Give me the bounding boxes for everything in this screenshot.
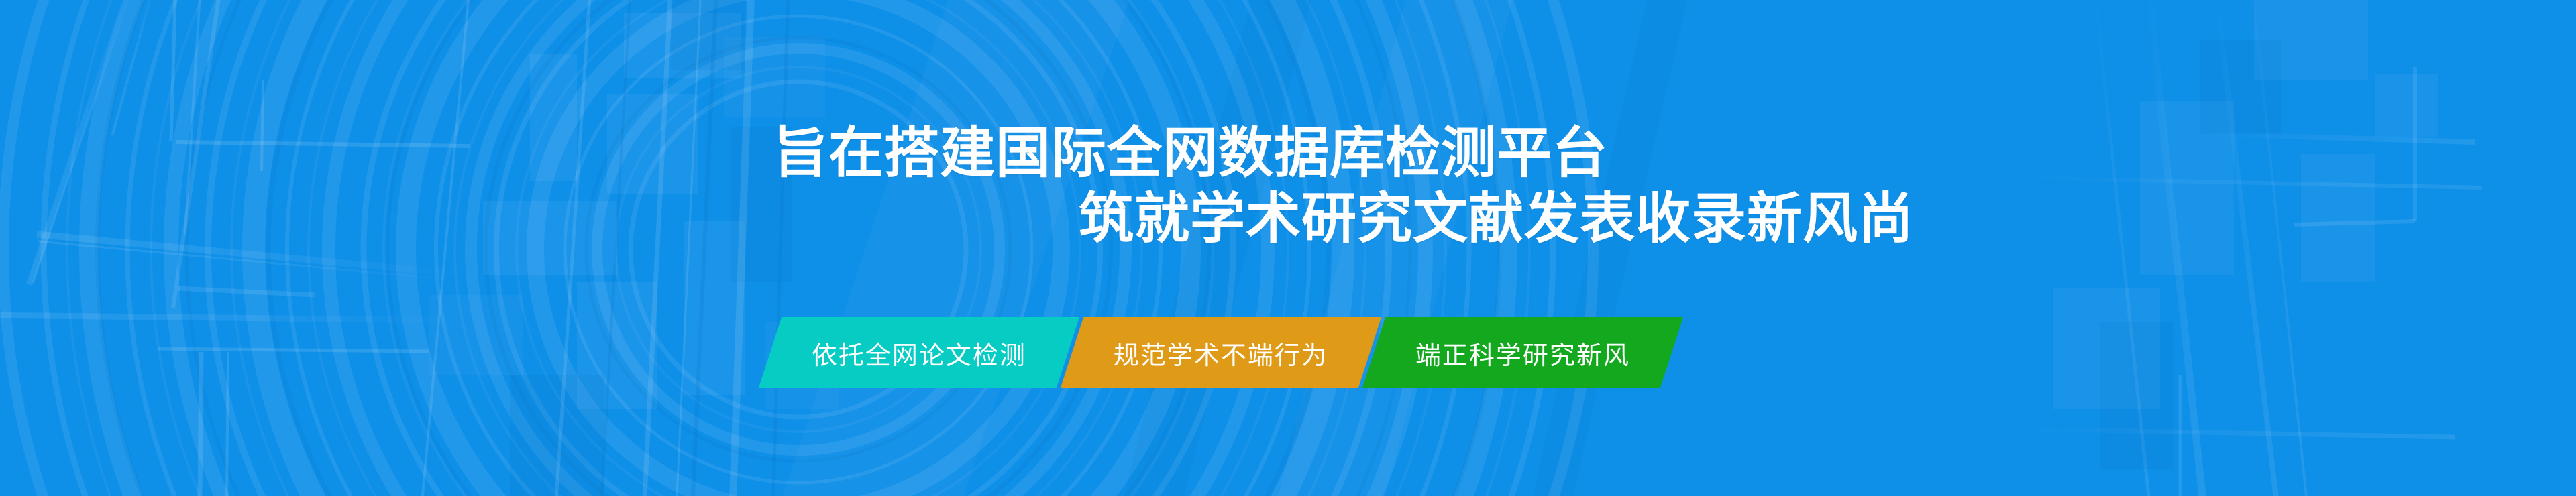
tag-academic-misconduct[interactable]: 规范学术不端行为 — [1061, 317, 1381, 388]
tag-label: 依托全网论文检测 — [770, 334, 1068, 371]
tag-label: 规范学术不端行为 — [1072, 334, 1370, 371]
headline-line-1: 旨在搭建国际全网数据库检测平台 — [773, 121, 2576, 186]
headline-line-2: 筑就学术研究文献发表收录新风尚 — [1079, 186, 2576, 252]
headline-block: 旨在搭建国际全网数据库检测平台 筑就学术研究文献发表收录新风尚 — [0, 121, 2576, 252]
promo-banner: 旨在搭建国际全网数据库检测平台 筑就学术研究文献发表收录新风尚 依托全网论文检测… — [0, 0, 2576, 496]
tag-label: 端正科学研究新风 — [1374, 334, 1672, 371]
tag-plagiarism-detection[interactable]: 依托全网论文检测 — [759, 317, 1079, 388]
tag-research-ethics[interactable]: 端正科学研究新风 — [1362, 317, 1683, 388]
feature-tag-bar: 依托全网论文检测 规范学术不端行为 端正科学研究新风 — [770, 317, 1672, 388]
